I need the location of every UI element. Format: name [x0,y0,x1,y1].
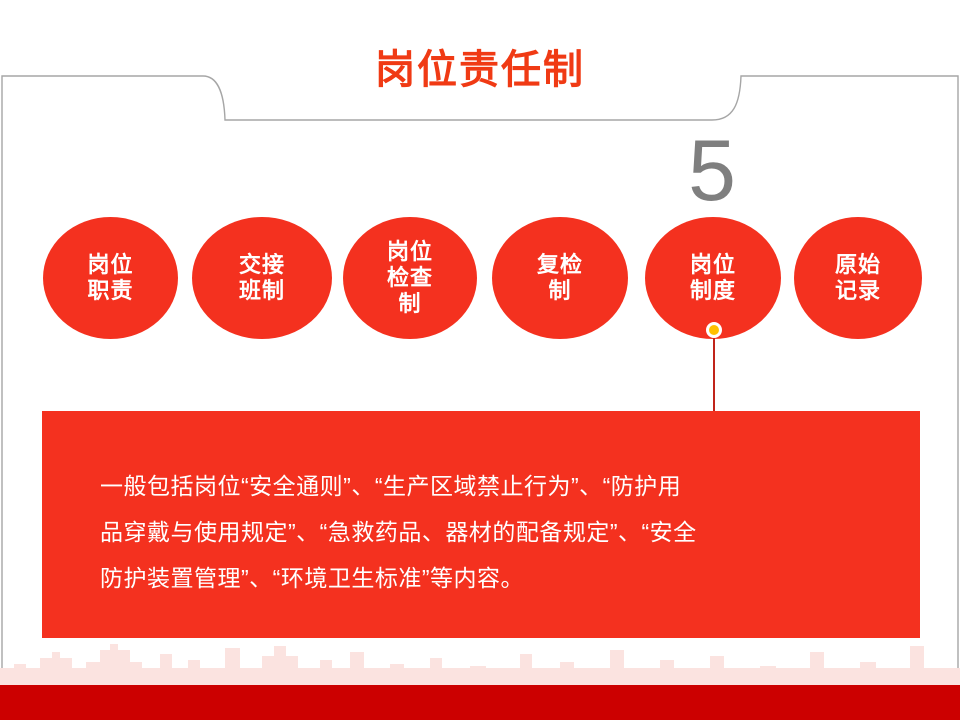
slide-canvas: 岗位责任制 5 岗位 职责 交接 班制 岗位 检查 制 复检 制 岗位 制度 原… [0,0,960,720]
badge-label: 复检 制 [537,252,583,304]
connector-line [713,337,715,412]
badge-row: 岗位 职责 交接 班制 岗位 检查 制 复检 制 岗位 制度 原始 记录 [0,217,960,341]
badge-label: 岗位 制度 [690,252,736,304]
page-title: 岗位责任制 [0,48,960,92]
description-text: 一般包括岗位“安全通则”、“生产区域禁止行为”、“防护用 品穿戴与使用规定”、“… [100,463,870,601]
badge-label: 岗位 职责 [87,252,133,304]
badge-label: 交接 班制 [239,252,285,304]
badge-original-record[interactable]: 原始 记录 [794,217,922,339]
badge-label: 原始 记录 [835,252,881,304]
badge-post-system[interactable]: 岗位 制度 [645,217,781,339]
skyline-decoration [0,640,960,685]
badge-recheck[interactable]: 复检 制 [492,217,628,339]
description-line: 防护装置管理”、“环境卫生标准”等内容。 [100,555,870,601]
description-panel: 一般包括岗位“安全通则”、“生产区域禁止行为”、“防护用 品穿戴与使用规定”、“… [42,411,920,638]
description-line: 一般包括岗位“安全通则”、“生产区域禁止行为”、“防护用 [100,463,870,509]
description-line: 品穿戴与使用规定”、“急救药品、器材的配备规定”、“安全 [100,509,870,555]
bottom-bar [0,685,960,720]
badge-shift-handover[interactable]: 交接 班制 [192,217,332,339]
step-number: 5 [672,128,752,214]
badge-post-inspection[interactable]: 岗位 检查 制 [343,217,477,339]
badge-post-duty[interactable]: 岗位 职责 [43,217,178,339]
connector-dot-icon [706,322,722,338]
badge-label: 岗位 检查 制 [387,239,433,317]
